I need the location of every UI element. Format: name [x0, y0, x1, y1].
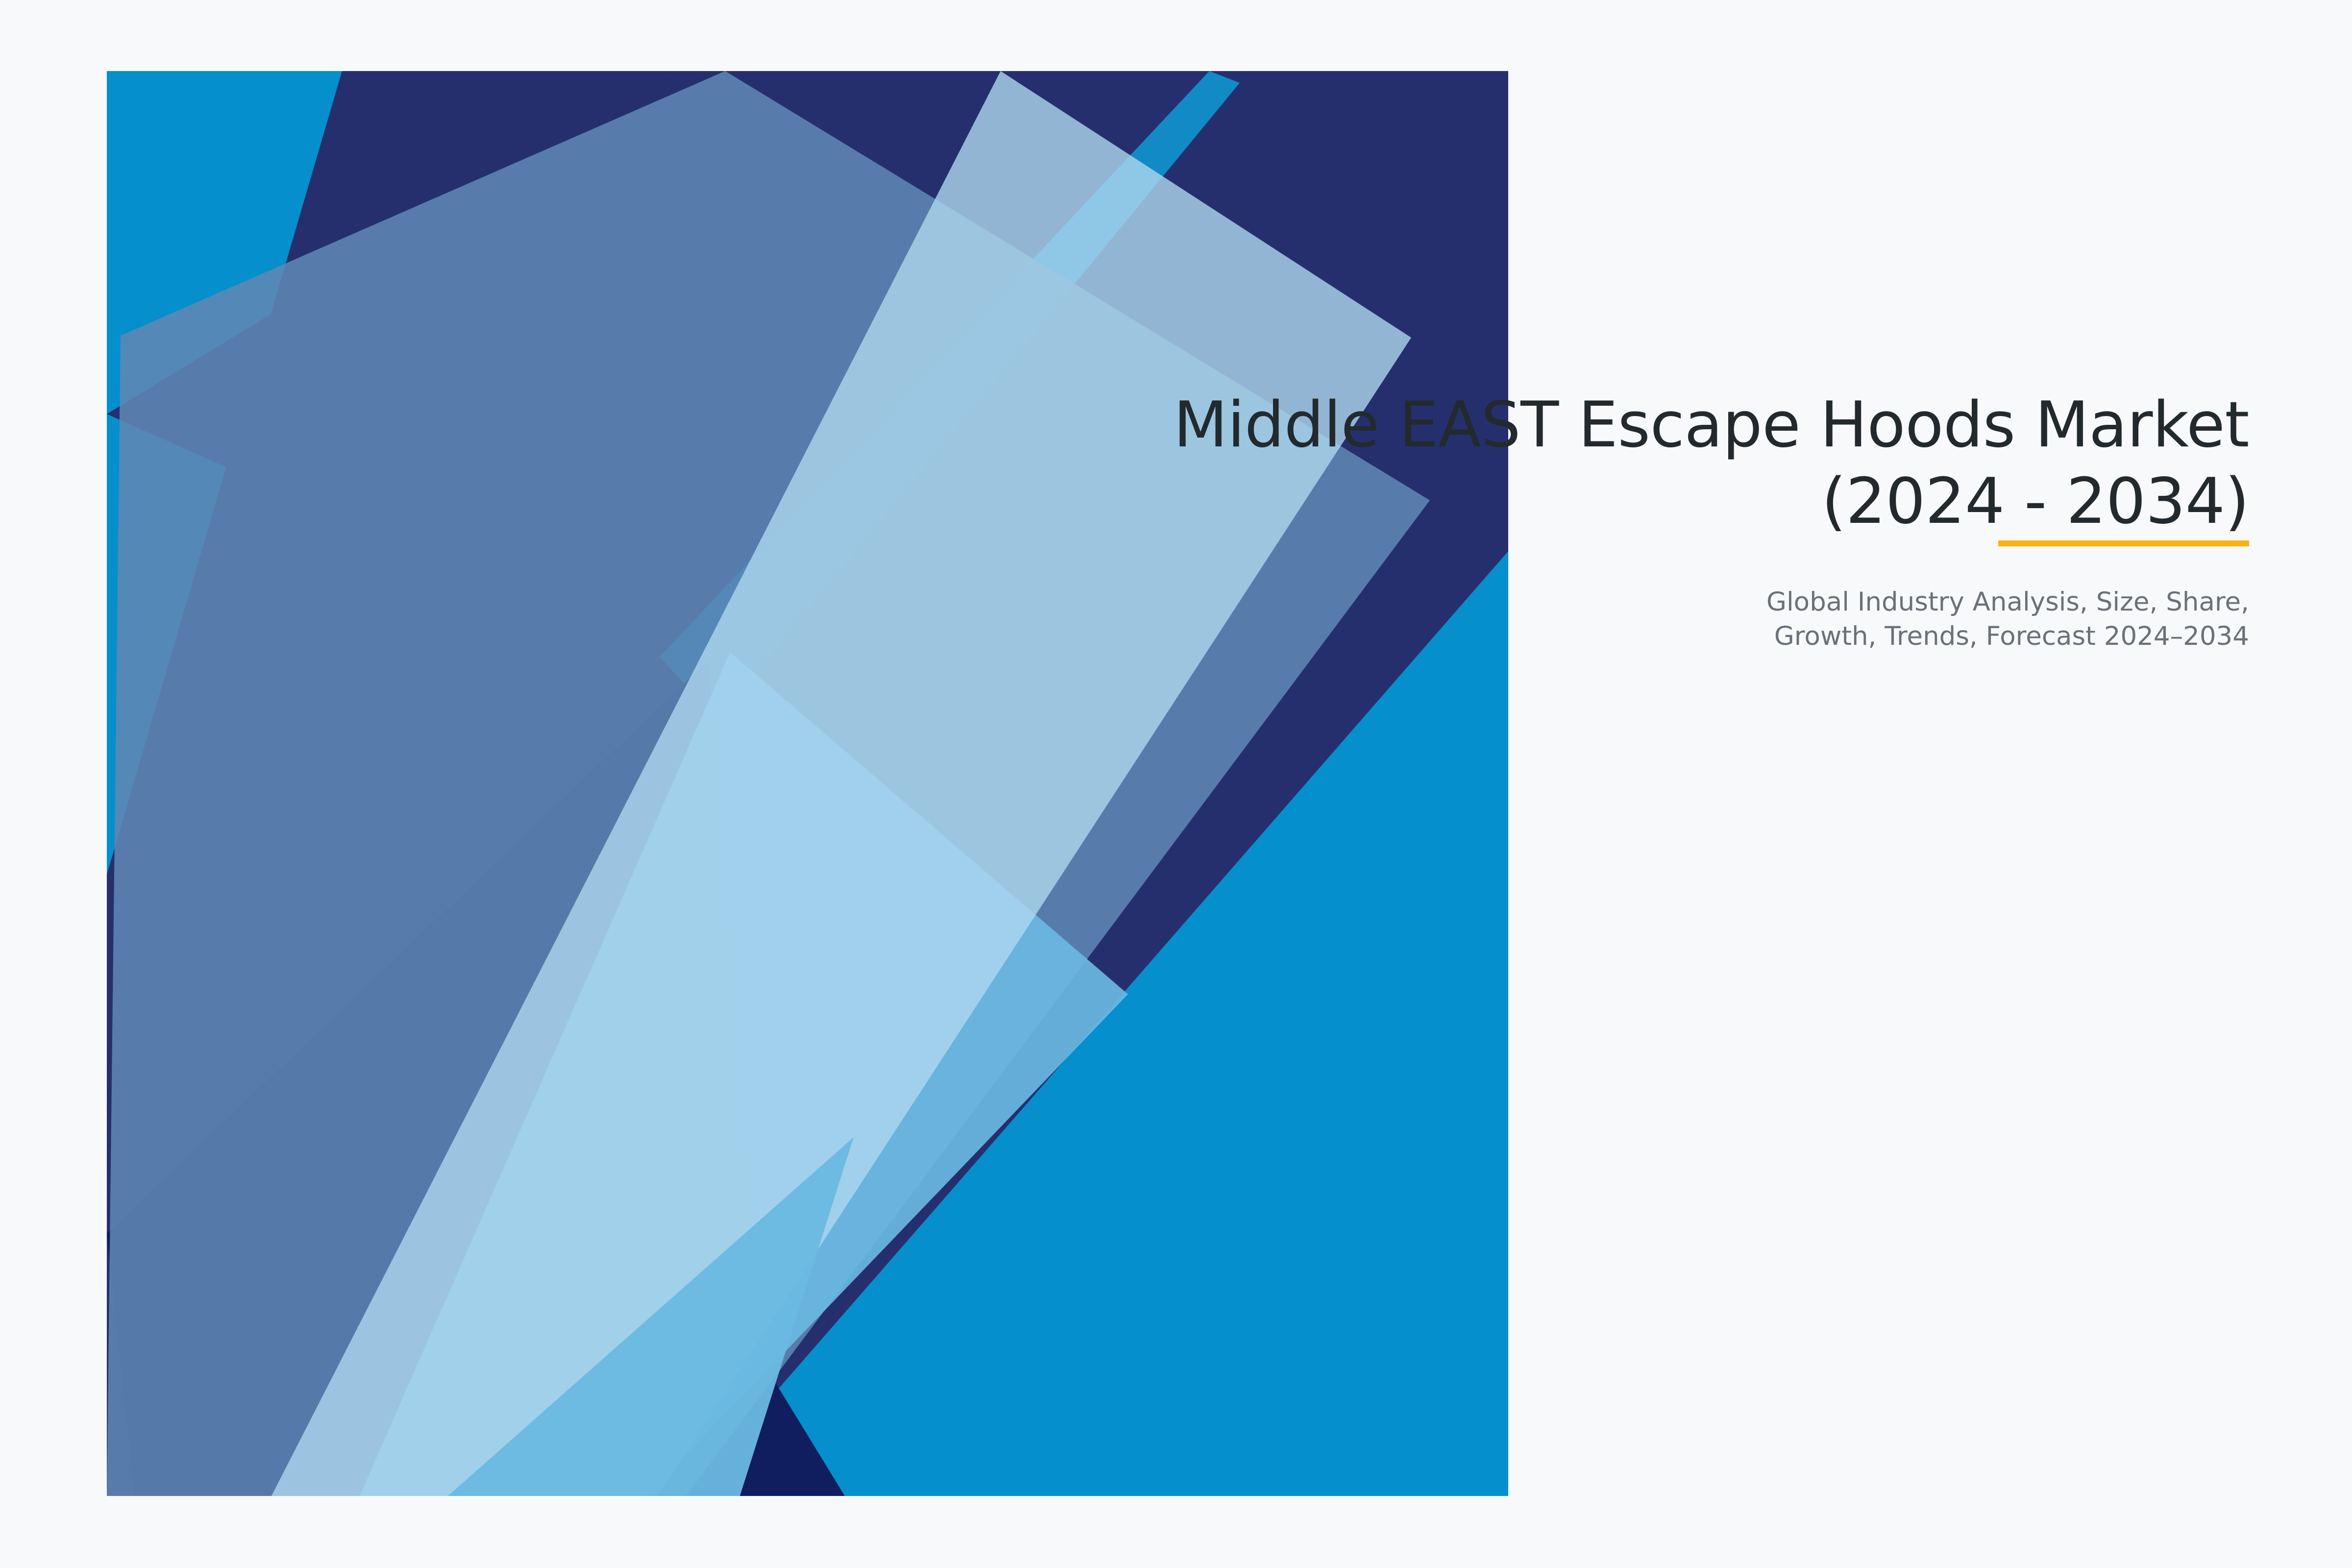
title-block: Middle EAST Escape Hoods Market (2024 - … [960, 387, 2249, 540]
abstract-geometric-artwork [107, 71, 1508, 1496]
title-highlight-bar [1998, 540, 2249, 546]
report-subtitle: Global Industry Analysis, Size, Share, G… [960, 585, 2249, 654]
report-cover: Middle EAST Escape Hoods Market (2024 - … [0, 0, 2352, 1568]
page-title: Middle EAST Escape Hoods Market (2024 - … [960, 387, 2249, 540]
cover-artwork [107, 71, 1508, 1496]
cover-text-column: Middle EAST Escape Hoods Market (2024 - … [960, 387, 2249, 654]
